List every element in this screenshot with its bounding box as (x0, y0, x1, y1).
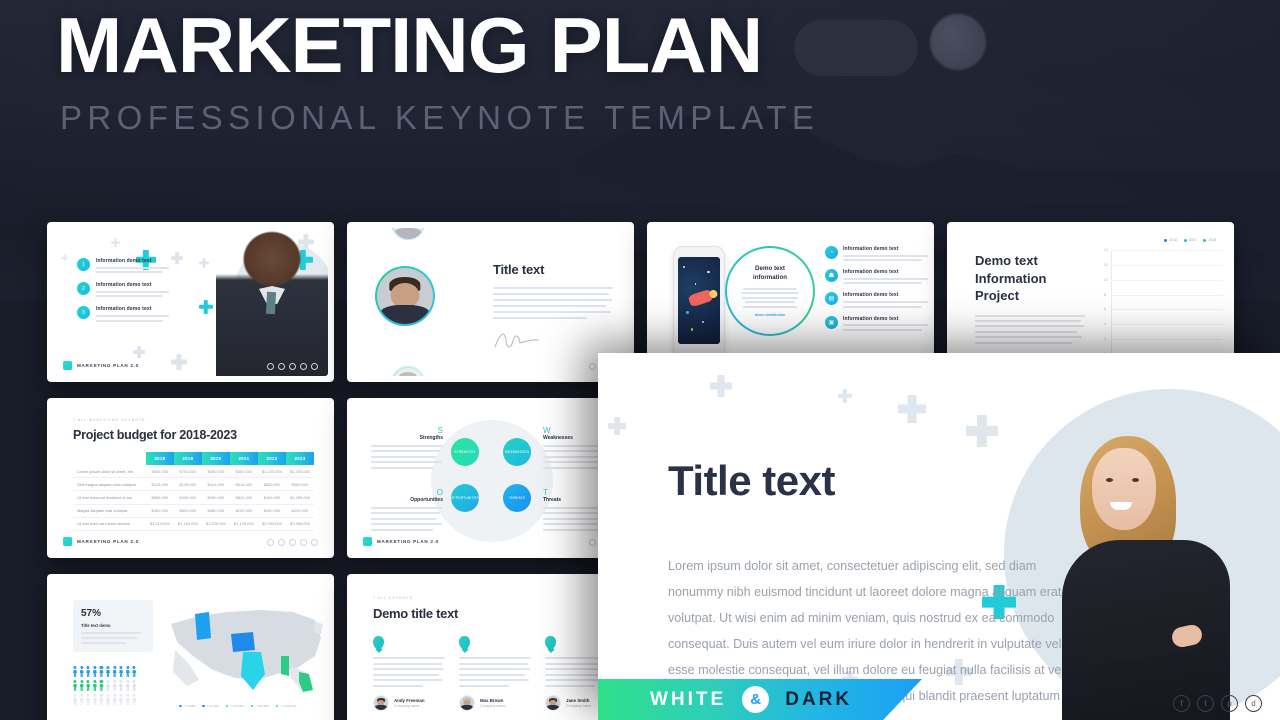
pinterest-icon[interactable]: p (1221, 695, 1238, 712)
table-row[interactable]: Lorem ipsum dolor sit amet, elit$500,000… (73, 465, 314, 478)
table-cell: $820,000 (230, 491, 258, 504)
map-legend: < 10,000< 50,000< 100,000< 500,000< 1,00… (179, 704, 296, 708)
list-item[interactable]: 1 Information demo text (77, 258, 169, 273)
table-cell: $123,000 (146, 478, 174, 491)
legend-label: 2016 (1169, 238, 1177, 242)
map-legend-swatch (226, 705, 229, 708)
eyebrow-label: 7 ALL KEYNOTE (373, 596, 413, 600)
table-cell: $1,205,000 (202, 517, 230, 530)
footer-label: MARKETING PLAN 2.0 (77, 363, 139, 368)
table-row-label: Lorem ipsum dolor sit amet, elit (73, 465, 146, 478)
ring-title-line2: information (739, 273, 801, 282)
featured-photo-woman (1076, 420, 1256, 720)
chart-slide-title-3: Project (975, 287, 1085, 305)
eyebrow-label: 7 ALL MARKETING KEYNOTE (73, 418, 146, 422)
slide-thumbnail-us-map[interactable]: 57% Title text demo (47, 574, 334, 720)
table-row[interactable]: Magna aliquam erat volutpat$300,000$820,… (73, 504, 314, 517)
swot-bubble-label: THREATS (509, 496, 525, 500)
portrait-photo-man (216, 228, 328, 376)
slide-thumbnail-swot[interactable]: STRENGTHS WEAKNESSES OPPORTUNITIES THREA… (347, 398, 634, 558)
footer-label: MARKETING PLAN 2.0 (377, 539, 439, 544)
chart-legend: 2016 2017 2018 (1164, 238, 1216, 242)
plus-decor-icon (199, 258, 209, 268)
avatar-main (375, 266, 435, 326)
table-cell: $290,000 (286, 504, 314, 517)
featured-title: Title text (668, 457, 835, 505)
table-row[interactable]: Ut wisi euismod tincidunt ut lao$560,000… (73, 491, 314, 504)
table-cell: $500,000 (146, 465, 174, 478)
plus-decor-icon (966, 415, 998, 447)
table-cell: $830,000 (258, 478, 286, 491)
people-pictogram (73, 666, 136, 705)
map-legend-label: < 10,000 (184, 704, 196, 708)
us-map: < 10,000< 50,000< 100,000< 500,000< 1,00… (165, 594, 327, 704)
ring-title-line1: Demo text (739, 264, 801, 273)
footer-label: MARKETING PLAN 2.0 (77, 539, 139, 544)
list-item[interactable]: ◔ Information demo text (825, 246, 928, 261)
chart-y-tick: 12 (1104, 263, 1108, 267)
phone-mockup (673, 246, 725, 358)
table-cell: $1,129,000 (230, 517, 258, 530)
person-name: Andy Freeman (394, 698, 425, 703)
swot-heading-opportunities: Opportunities (371, 497, 443, 503)
map-legend-label: < 500,000 (255, 704, 268, 708)
swot-letter-o: O (371, 488, 443, 497)
devices-icon: ▣ (825, 316, 838, 329)
person-name: Max Brown (480, 698, 505, 703)
avatar (545, 695, 561, 711)
table-cell: $135,000 (174, 478, 202, 491)
pagination-dots[interactable] (267, 363, 318, 370)
plus-accent-icon (199, 300, 213, 314)
map-legend-swatch (251, 705, 254, 708)
plus-decor-icon (111, 238, 120, 247)
map-legend-swatch (179, 705, 182, 708)
list-item[interactable]: 3 Information demo text (77, 306, 169, 321)
map-legend-swatch (202, 705, 205, 708)
plus-decor-icon (608, 417, 626, 435)
chart-slide-title-2: Information (975, 270, 1085, 288)
table-cell: $360,000 (230, 465, 258, 478)
testimonial-card[interactable]: Max Brown Company name (459, 636, 531, 711)
avatar (459, 695, 475, 711)
brand-logo-icon (363, 537, 372, 546)
table-cell: $640,000 (258, 504, 286, 517)
table-cell: $150,000 (230, 504, 258, 517)
plus-decor-icon (838, 389, 852, 403)
table-cell: $430,000 (174, 491, 202, 504)
header: MARKETING PLAN 2.0 PROFESSIONAL KEYNOTE … (0, 0, 1280, 137)
slide-thumbnail-budget-table[interactable]: 7 ALL MARKETING KEYNOTE Project budget f… (47, 398, 334, 558)
table-cell: $690,000 (202, 491, 230, 504)
plus-decor-icon (61, 254, 68, 261)
table-cell: $1,513,000 (146, 517, 174, 530)
swot-bubble-opportunities[interactable]: OPPORTUNITIES (451, 484, 479, 512)
table-column-header: 2019 (174, 452, 202, 465)
item-heading: Information demo text (843, 246, 928, 252)
social-links[interactable]: ftpd (1173, 695, 1262, 712)
table-cell: $700,000 (174, 465, 202, 478)
slide-thumbnail-testimonials[interactable]: 7 ALL KEYNOTE Demo title text Andy Freem… (347, 574, 634, 720)
list-item[interactable]: ▤ Information demo text (825, 292, 928, 307)
ring-link[interactable]: demo distribution (739, 313, 801, 317)
chart-slide-title-1: Demo text (975, 252, 1085, 270)
slide-title: Demo title text (373, 606, 458, 621)
quote-icon (373, 636, 384, 649)
table-cell: $441,000 (202, 478, 230, 491)
item-heading: Information demo text (843, 316, 928, 322)
table-column-header: 2020 (202, 452, 230, 465)
map-legend-item: < 500,000 (251, 704, 269, 708)
slide-thumbnail-profile-title[interactable]: Title text (347, 222, 634, 382)
table-row-label: Sed magna aliquam erat volutpat (73, 478, 146, 491)
table-cell: $1,285,000 (286, 491, 314, 504)
map-legend-label: < 100,000 (230, 704, 243, 708)
slide-footer: MARKETING PLAN 2.0 (63, 361, 139, 370)
table-cell: $445,000 (258, 491, 286, 504)
table-row-label: Ut wisi enim ad minim veniam (73, 517, 146, 530)
stat-callout: 57% Title text demo (73, 600, 153, 652)
pagination-dots[interactable] (267, 539, 318, 546)
swot-heading-strengths: Strengths (371, 435, 443, 441)
title-row: MARKETING PLAN 2.0 (56, 8, 1280, 83)
facebook-icon[interactable]: f (1173, 695, 1190, 712)
signature-icon (493, 329, 541, 351)
plus-decor-icon (133, 346, 145, 358)
map-legend-label: < 1,000,000 (280, 704, 296, 708)
item-heading: Information demo text (843, 292, 928, 298)
table-cell: $560,000 (286, 478, 314, 491)
chart-y-tick: 10 (1104, 278, 1108, 282)
featured-slide[interactable]: Title text Lorem ipsum dolor sit amet, c… (598, 353, 1280, 720)
chart-y-tick: 6 (1104, 307, 1106, 311)
map-legend-item: < 10,000 (179, 704, 195, 708)
list-item[interactable]: ▣ Information demo text (825, 316, 928, 331)
bullet-number: 1 (77, 258, 90, 271)
table-column-header: 2022 (258, 452, 286, 465)
bullet-number: 3 (77, 306, 90, 319)
table-cell: $3,456,000 (286, 517, 314, 530)
table-row-label: Ut wisi euismod tincidunt ut lao (73, 491, 146, 504)
version-badge: 2.0 (794, 20, 918, 76)
plus-decor-icon (898, 395, 926, 423)
twitter-icon[interactable]: t (1197, 695, 1214, 712)
table-cell: $820,000 (174, 504, 202, 517)
page-title: MARKETING PLAN (56, 8, 762, 83)
map-legend-item: < 50,000 (202, 704, 218, 708)
slide-title: Project budget for 2018-2023 (73, 428, 237, 442)
banner-white-label: WHITE (650, 689, 726, 711)
slide-footer: MARKETING PLAN 2.0 (63, 537, 139, 546)
person-role: Company name (480, 704, 505, 708)
person-role: Company name (566, 704, 591, 708)
stat-caption: Title text demo (81, 623, 145, 628)
bullet-heading: Information demo text (96, 282, 169, 288)
legend-label: 2018 (1208, 238, 1216, 242)
table-header-row: 201820192020202120222023 (73, 452, 314, 465)
swot-bubble-threats[interactable]: THREATS (503, 484, 531, 512)
slide-footer: MARKETING PLAN 2.0 (363, 537, 439, 546)
table-cell: $560,000 (146, 491, 174, 504)
table-row-label: Magna aliquam erat volutpat (73, 504, 146, 517)
table-column-header (73, 452, 146, 465)
quote-icon (459, 636, 470, 649)
bullet-number: 2 (77, 282, 90, 295)
banner-dark-label: DARK (785, 689, 852, 711)
brand-logo-icon (63, 537, 72, 546)
budget-table: 201820192020202120222023 Lorem ipsum dol… (73, 452, 314, 531)
slide-title: Title text (493, 262, 613, 277)
building-icon: ▤ (825, 292, 838, 305)
chart-y-tick: 2 (1104, 337, 1106, 341)
bar-chart: 14121086420 Category 1Category 2Category… (1111, 250, 1223, 354)
map-legend-swatch (276, 705, 279, 708)
table-column-header: 2021 (230, 452, 258, 465)
white-and-dark-banner: WHITE & DARK (598, 679, 922, 720)
table-cell: $2,093,000 (258, 517, 286, 530)
swot-bubble-strengths[interactable]: STRENGTHS (451, 438, 479, 466)
table-cell: $1,160,000 (174, 517, 202, 530)
bullet-heading: Information demo text (96, 258, 169, 264)
avatar-below[interactable] (391, 366, 425, 376)
table-cell: $1,200,000 (286, 465, 314, 478)
table-cell: $1,100,000 (258, 465, 286, 478)
legend-label: 2017 (1189, 238, 1197, 242)
plus-decor-icon (171, 252, 183, 264)
map-legend-label: < 50,000 (207, 704, 219, 708)
person-name: Jane Smith (566, 698, 591, 703)
slide-thumbnail-bullets-portrait[interactable]: 1 Information demo text 2 Information de… (47, 222, 334, 382)
bullet-heading: Information demo text (96, 306, 169, 312)
page-subtitle: PROFESSIONAL KEYNOTE TEMPLATE (60, 99, 1280, 137)
map-legend-item: < 100,000 (226, 704, 244, 708)
chart-y-tick: 4 (1104, 322, 1106, 326)
table-column-header: 2018 (146, 452, 174, 465)
table-cell: $560,000 (202, 465, 230, 478)
avatar-above[interactable] (391, 228, 425, 240)
table-cell: $300,000 (146, 504, 174, 517)
plus-decor-icon (710, 375, 732, 397)
plus-decor-icon (171, 354, 187, 370)
dribbble-icon[interactable]: d (1245, 695, 1262, 712)
banner-ampersand: & (742, 686, 769, 713)
list-item[interactable]: 2 Information demo text (77, 282, 169, 297)
item-heading: Information demo text (843, 269, 928, 275)
person-role: Company name (394, 704, 425, 708)
table-cell: $860,000 (202, 504, 230, 517)
brand-logo-icon (63, 361, 72, 370)
swot-bubble-label: STRENGTHS (454, 450, 475, 454)
swot-bubble-label: OPPORTUNITIES (451, 496, 480, 500)
table-body: Lorem ipsum dolor sit amet, elit$500,000… (73, 465, 314, 530)
user-icon: ☗ (825, 269, 838, 282)
quote-icon (545, 636, 556, 649)
avatar (373, 695, 389, 711)
map-legend-item: < 1,000,000 (276, 704, 297, 708)
clock-icon: ◔ (825, 246, 838, 259)
us-map-svg (165, 594, 327, 704)
swot-letter-s: S (371, 426, 443, 435)
swot-bubble-weaknesses[interactable]: WEAKNESSES (503, 438, 531, 466)
slide-preview-stage: MARKETING PLAN 2.0 PROFESSIONAL KEYNOTE … (0, 0, 1280, 720)
table-row[interactable]: Sed magna aliquam erat volutpat$123,000$… (73, 478, 314, 491)
swot-bubble-label: WEAKNESSES (505, 450, 529, 454)
table-column-header: 2023 (286, 452, 314, 465)
table-row[interactable]: Ut wisi enim ad minim veniam$1,513,000$1… (73, 517, 314, 530)
stat-percent: 57% (81, 608, 145, 619)
chart-y-tick: 8 (1104, 293, 1106, 297)
testimonial-card[interactable]: Andy Freeman Company name (373, 636, 445, 711)
table-cell: $618,000 (230, 478, 258, 491)
chart-y-tick: 14 (1104, 248, 1108, 252)
list-item[interactable]: ☗ Information demo text (825, 269, 928, 284)
